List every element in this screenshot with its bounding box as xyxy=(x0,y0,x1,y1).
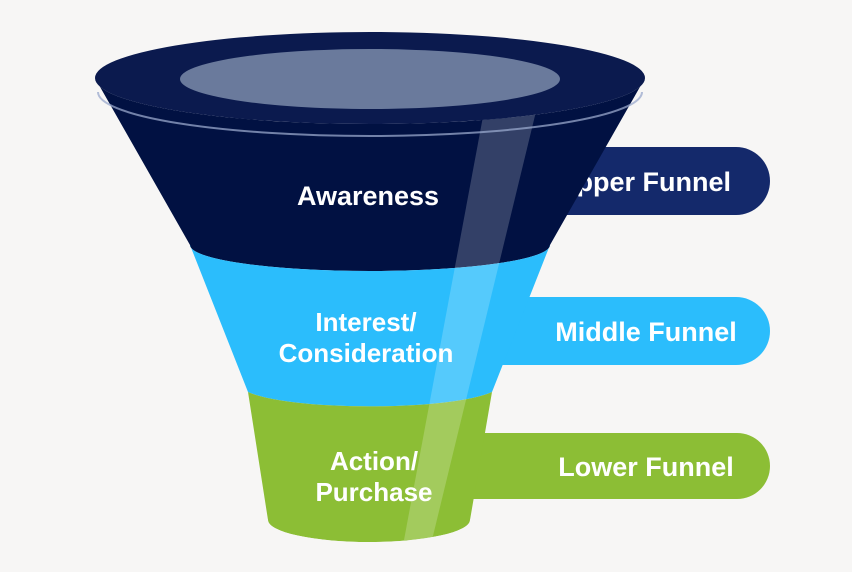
stage-label-action-line1: Action/ xyxy=(330,446,418,476)
stage-label-interest-line1: Interest/ xyxy=(315,307,416,337)
funnel-graphic: Upper Funnel Middle Funnel Lower Funnel xyxy=(0,0,852,572)
stage-label-awareness: Awareness xyxy=(297,181,439,211)
stage-label-interest-line2: Consideration xyxy=(279,338,454,368)
pill-lower-funnel-label: Lower Funnel xyxy=(558,452,734,482)
funnel-rim-inner xyxy=(180,49,560,109)
stage-label-action-line2: Purchase xyxy=(315,477,432,507)
pill-middle-funnel-label: Middle Funnel xyxy=(555,317,737,347)
funnel-diagram: Upper Funnel Middle Funnel Lower Funnel xyxy=(0,0,852,572)
